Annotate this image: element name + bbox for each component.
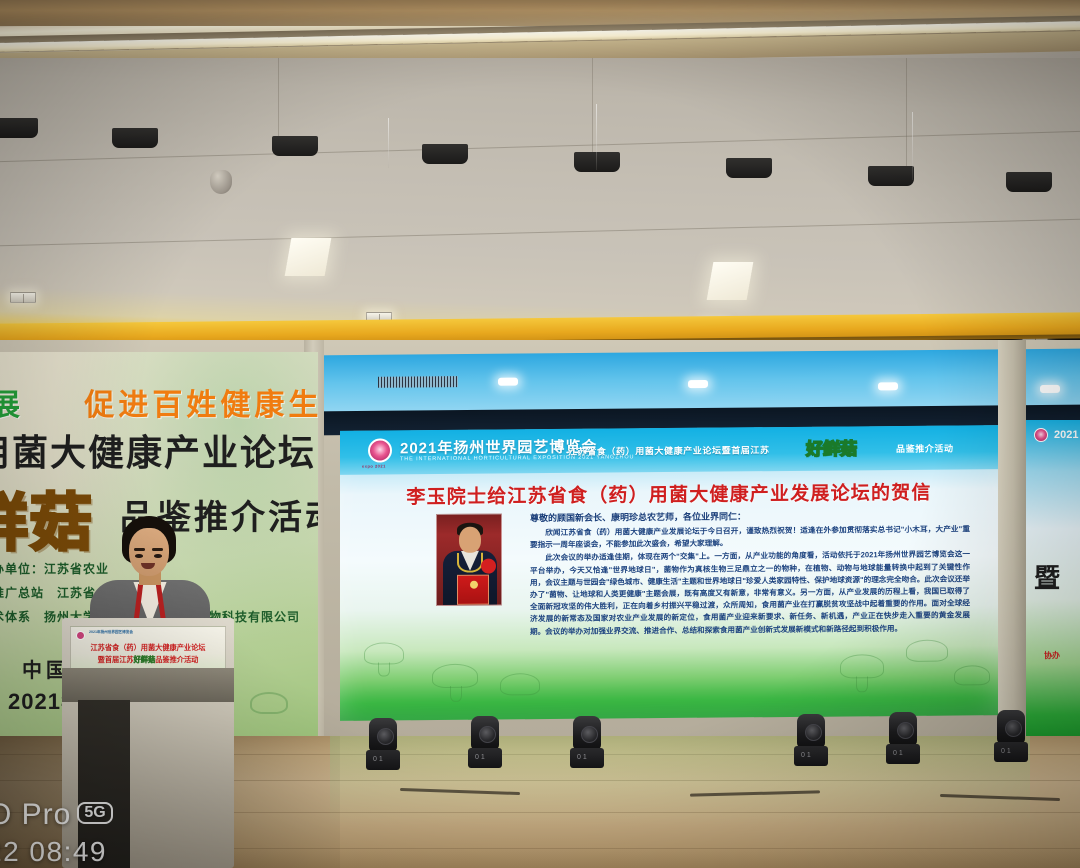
dome-camera-icon	[210, 170, 232, 194]
moving-head-light: 01	[886, 712, 920, 764]
floor-green-reflection	[330, 736, 1030, 826]
light-label: 01	[893, 750, 905, 757]
camera-watermark-model: O Pro5G	[0, 798, 113, 832]
mushroom-decoration-icon	[364, 642, 404, 664]
mushroom-decoration-icon	[954, 665, 990, 685]
podium-sign-top-text: 2021年扬州世界园艺博览会	[89, 630, 133, 635]
mushroom-stem-icon	[378, 662, 390, 676]
photo-scene: 展 促进百姓健康生活 用菌大健康产业论坛 鲜菇 品鉴推介活动 办单位：江苏省农业…	[0, 0, 1080, 868]
mushroom-decoration-icon	[500, 673, 540, 695]
ceiling-seam-vertical	[592, 58, 593, 162]
slide-title: 李玉院士给江苏省食（药）用菌大健康产业发展论坛的贺信	[340, 477, 998, 510]
moving-head-light: 01	[794, 714, 828, 766]
podium-sign-badge: 好鲜菇	[134, 655, 156, 664]
watermark-model-text: O Pro	[0, 798, 71, 831]
upper-band-downlight	[878, 382, 898, 390]
slide-header-subtitle-left: 江苏省食（药）用菌大健康产业论坛暨首届江苏	[568, 443, 770, 458]
moving-head-light: 01	[570, 716, 604, 768]
portrait-medal-ribbon	[457, 553, 483, 573]
expo-logo-icon	[76, 631, 85, 640]
slide-header-bar: expo 2021 2021年扬州世界园艺博览会 THE INTERNATION…	[340, 425, 998, 475]
right-banner-year: 2021	[1054, 429, 1078, 441]
mushroom-stem-icon	[450, 686, 462, 702]
slide-paragraph: 欣闻江苏省食（药）用菌大健康产业发展论坛于今日召开，谨致热烈祝贺！适逢在外参加贯…	[530, 523, 970, 551]
slide-header-subtitle-right: 品鉴推介活动	[896, 442, 954, 456]
slide-paragraph: 此次会议的举办适逢佳期，体现在两个"交集"上。一方面，从产业功能的角度看，活动依…	[530, 549, 970, 638]
mushroom-stem-icon	[856, 676, 868, 692]
ceiling-downlight	[10, 292, 36, 303]
upper-band-downlight	[688, 380, 708, 388]
expo-logo-icon	[368, 438, 392, 462]
light-label: 01	[1001, 748, 1013, 755]
slide-body-text: 欣闻江苏省食（药）用菌大健康产业发展论坛于今日召开，谨致热烈祝贺！适逢在外参加贯…	[530, 523, 970, 639]
backdrop-forum-title: 用菌大健康产业论坛	[0, 424, 318, 476]
backdrop-headline-part1: 展	[0, 389, 24, 422]
ceiling	[0, 0, 1080, 330]
expo-logo-subtext: expo 2021	[362, 463, 386, 468]
right-banner-subtext: 协办	[1044, 650, 1060, 661]
ceiling-speaker	[0, 118, 38, 138]
portrait-face	[459, 527, 481, 553]
moving-head-light: 01	[994, 710, 1028, 762]
camera-watermark-timestamp: 22 08:49	[0, 836, 107, 868]
expo-logo-icon	[1034, 428, 1048, 442]
backdrop-organizer-line: 推广总站 江苏省	[0, 584, 96, 601]
right-banner-headline: 暨	[1034, 558, 1060, 595]
right-side-banner: 2021 暨 协办	[1026, 420, 1080, 740]
backdrop-headline: 展 促进百姓健康生活	[0, 380, 318, 424]
podium-sign-line2-suffix: 品鉴推介活动	[155, 655, 198, 664]
portrait-photo	[436, 513, 502, 606]
light-label: 01	[801, 752, 813, 759]
backdrop-calligraphy: 鲜菇	[0, 472, 94, 562]
upper-band-downlight	[498, 378, 518, 386]
podium-sign-line1: 江苏省食（药）用菌大健康产业论坛	[71, 643, 225, 653]
certificate-emblem-icon	[470, 581, 478, 589]
watermark-5g-badge: 5G	[77, 802, 112, 824]
stage-right-pillar	[998, 340, 1026, 740]
ceiling-speaker	[422, 144, 468, 164]
mushroom-decoration-icon	[906, 640, 948, 662]
podium-sign: 2021年扬州世界园艺博览会 江苏省食（药）用菌大健康产业论坛 暨首届江苏好鲜菇…	[70, 626, 226, 672]
upper-band-downlight	[1040, 385, 1060, 393]
moving-head-light: 01	[468, 716, 502, 768]
ceiling-speaker	[868, 166, 914, 186]
portrait-red-flower	[481, 559, 496, 574]
ceiling-speaker	[112, 128, 158, 148]
mushroom-decoration-icon	[432, 664, 478, 688]
moving-head-light: 01	[366, 718, 400, 770]
ceiling-wire	[596, 104, 597, 170]
slide-header-badge: 好鲜菇	[806, 434, 857, 459]
podium-sign-line2: 暨首届江苏好鲜菇品鉴推介活动	[71, 655, 225, 665]
backdrop-headline-part2: 促进百姓健康生活	[84, 389, 318, 422]
mushroom-decoration-icon	[250, 692, 288, 714]
ceiling-speaker	[1006, 172, 1052, 192]
ceiling-speaker	[726, 158, 772, 178]
podium-front-shadow	[62, 668, 234, 702]
upper-band-vent	[378, 376, 458, 388]
ceiling-plane	[0, 58, 1080, 330]
light-label: 01	[475, 754, 487, 761]
light-label: 01	[577, 754, 589, 761]
ceiling-panel-light	[285, 238, 332, 276]
mushroom-decoration-icon	[840, 654, 884, 678]
ceiling-seam-vertical	[906, 58, 907, 170]
ceiling-speaker	[272, 136, 318, 156]
ceiling-panel-light	[707, 262, 754, 300]
slide-salutation: 尊敬的顾国新会长、康明珍总农艺师，各位业界同仁：	[530, 509, 746, 524]
led-screen-slide: expo 2021 2021年扬州世界园艺博览会 THE INTERNATION…	[340, 425, 998, 721]
ceiling-wire	[912, 112, 913, 180]
light-label: 01	[373, 756, 385, 763]
ceiling-wire	[388, 118, 389, 168]
podium-sign-line2-prefix: 暨首届江苏	[98, 655, 134, 664]
portrait-certificate	[457, 575, 489, 605]
ceiling-speaker	[574, 152, 620, 172]
